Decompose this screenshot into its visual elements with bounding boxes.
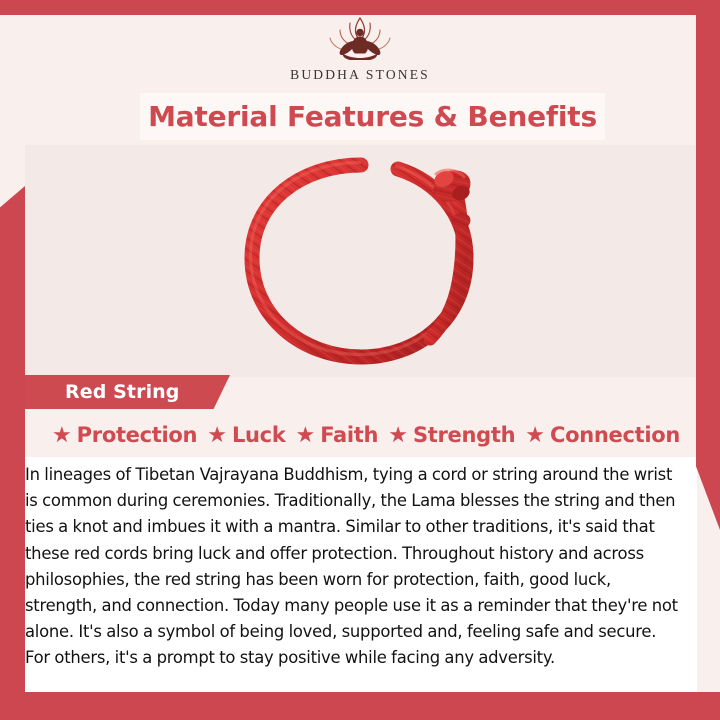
star-icon: ★ (525, 424, 545, 446)
lotus-meditation-icon (322, 15, 398, 65)
benefit-item: ★ Luck (197, 423, 285, 447)
benefit-item: ★ Strength (378, 423, 515, 447)
star-icon: ★ (388, 424, 408, 446)
infographic-page: BUDDHA STONES Material Features & Benefi… (0, 0, 720, 720)
benefit-label: Strength (413, 423, 515, 447)
brand-logo: BUDDHA STONES (0, 15, 720, 91)
benefit-label: Faith (320, 423, 378, 447)
description-panel: In lineages of Tibetan Vajrayana Buddhis… (25, 457, 697, 692)
benefits-list: ★ Protection ★ Luck ★ Faith ★ Strength ★… (25, 416, 697, 454)
benefit-item: ★ Protection (42, 423, 197, 447)
benefit-label: Protection (77, 423, 198, 447)
top-accent-band (0, 0, 720, 15)
benefit-label: Luck (232, 423, 286, 447)
star-icon: ★ (207, 424, 227, 446)
product-name-ribbon: Red String (25, 375, 230, 409)
product-name-label: Red String (65, 381, 180, 403)
left-accent-band (0, 186, 25, 720)
page-title: Material Features & Benefits (148, 100, 597, 133)
star-icon: ★ (295, 424, 315, 446)
description-text: In lineages of Tibetan Vajrayana Buddhis… (25, 462, 679, 672)
bottom-accent-band (0, 692, 720, 720)
star-icon: ★ (52, 424, 72, 446)
benefit-item: ★ Connection (515, 423, 680, 447)
red-braided-bracelet-image (230, 155, 492, 367)
brand-name: BUDDHA STONES (290, 67, 430, 83)
benefit-item: ★ Faith (285, 423, 378, 447)
hero-product-area (25, 145, 697, 377)
title-banner: Material Features & Benefits (140, 93, 605, 140)
benefit-label: Connection (550, 423, 680, 447)
